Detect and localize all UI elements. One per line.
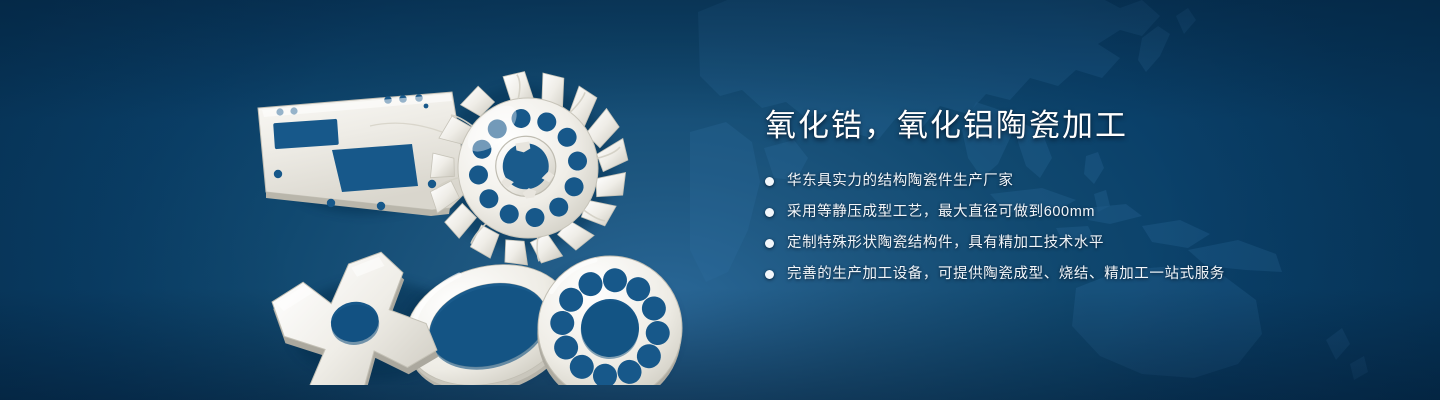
bullet-dot-icon	[765, 239, 774, 248]
hero-banner: 氧化锆，氧化铝陶瓷加工 华东具实力的结构陶瓷件生产厂家 采用等静压成型工艺，最大…	[0, 0, 1440, 400]
bullet-dot-icon	[765, 177, 774, 186]
feature-text: 采用等静压成型工艺，最大直径可做到600mm	[787, 201, 1095, 223]
feature-text: 华东具实力的结构陶瓷件生产厂家	[787, 170, 1014, 192]
feature-text: 完善的生产加工设备，可提供陶瓷成型、烧结、精加工一站式服务	[787, 263, 1225, 285]
list-item: 定制特殊形状陶瓷结构件，具有精加工技术水平	[765, 232, 1405, 254]
product-photo-group	[236, 40, 736, 385]
list-item: 完善的生产加工设备，可提供陶瓷成型、烧结、精加工一站式服务	[765, 263, 1405, 285]
feature-list: 华东具实力的结构陶瓷件生产厂家 采用等静压成型工艺，最大直径可做到600mm 定…	[765, 170, 1405, 285]
bullet-dot-icon	[765, 270, 774, 279]
page-title: 氧化锆，氧化铝陶瓷加工	[765, 104, 1405, 148]
banner-copy: 氧化锆，氧化铝陶瓷加工 华东具实力的结构陶瓷件生产厂家 采用等静压成型工艺，最大…	[765, 104, 1405, 294]
ceramic-hole-ring	[530, 249, 689, 385]
list-item: 华东具实力的结构陶瓷件生产厂家	[765, 170, 1405, 192]
list-item: 采用等静压成型工艺，最大直径可做到600mm	[765, 201, 1405, 223]
bullet-dot-icon	[765, 208, 774, 217]
feature-text: 定制特殊形状陶瓷结构件，具有精加工技术水平	[787, 232, 1104, 254]
